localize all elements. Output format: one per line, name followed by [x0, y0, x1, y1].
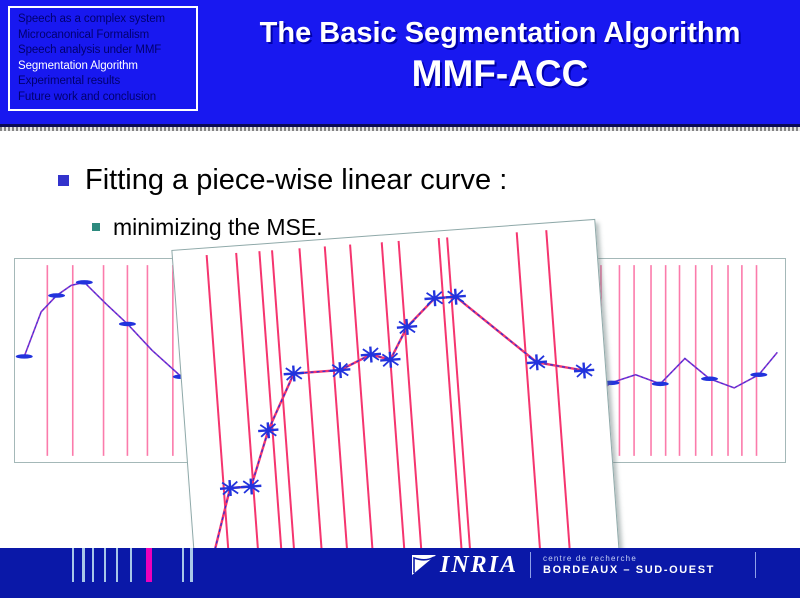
inria-logo: INRIA centre de recherche BORDEAUX – SUD…: [410, 548, 715, 582]
bullet-square-small-icon: [92, 223, 100, 231]
footer-stripe: [182, 548, 184, 582]
slide-title: The Basic Segmentation Algorithm MMF-ACC: [210, 14, 790, 96]
nav-item-speech-complex-system[interactable]: Speech as a complex system: [18, 12, 196, 28]
header-dotted-rule: [0, 127, 800, 131]
presentation-slide: Speech as a complex system Microcanonica…: [0, 0, 800, 598]
footer-stripe: [92, 548, 94, 582]
bullet-level1-label: Fitting a piece-wise linear curve :: [85, 163, 507, 197]
nav-item-microcanonical-formalism[interactable]: Microcanonical Formalism: [18, 28, 196, 44]
logo-divider: [530, 552, 531, 578]
page-title-secondary: MMF-ACC: [210, 52, 790, 96]
bullet-level1: Fitting a piece-wise linear curve :: [58, 163, 507, 197]
inria-mark-icon: [410, 553, 438, 577]
footer-stripe: [190, 548, 193, 582]
research-centre-label: centre de recherche: [543, 555, 715, 563]
nav-item-segmentation-algorithm[interactable]: Segmentation Algorithm: [18, 59, 196, 75]
logo-divider-right: [755, 552, 756, 578]
footer-stripe: [104, 548, 106, 582]
footer-stripe: [82, 548, 85, 582]
bullet-level2-label: minimizing the MSE.: [113, 213, 323, 241]
foreground-plot-svg: [172, 220, 618, 582]
footer-stripe: [116, 548, 118, 582]
bullet-level2: minimizing the MSE.: [92, 213, 323, 241]
page-title-primary: The Basic Segmentation Algorithm: [210, 14, 790, 52]
bullet-square-icon: [58, 175, 69, 186]
nav-item-future-work-conclusion[interactable]: Future work and conclusion: [18, 90, 196, 106]
foreground-zoom-plot: [171, 219, 619, 583]
nav-item-speech-analysis-mmf[interactable]: Speech analysis under MMF: [18, 43, 196, 59]
research-centre-block: centre de recherche BORDEAUX – SUD-OUEST: [543, 555, 715, 576]
footer-stripe: [146, 548, 152, 582]
footer-stripe: [130, 548, 132, 582]
slide-header: Speech as a complex system Microcanonica…: [0, 0, 800, 124]
inria-wordmark: INRIA: [440, 552, 518, 579]
nav-item-experimental-results[interactable]: Experimental results: [18, 74, 196, 90]
research-centre-city: BORDEAUX – SUD-OUEST: [543, 565, 715, 576]
outline-navigation-box: Speech as a complex system Microcanonica…: [8, 6, 198, 111]
slide-footer: INRIA centre de recherche BORDEAUX – SUD…: [0, 548, 800, 598]
footer-stripe: [72, 548, 74, 582]
